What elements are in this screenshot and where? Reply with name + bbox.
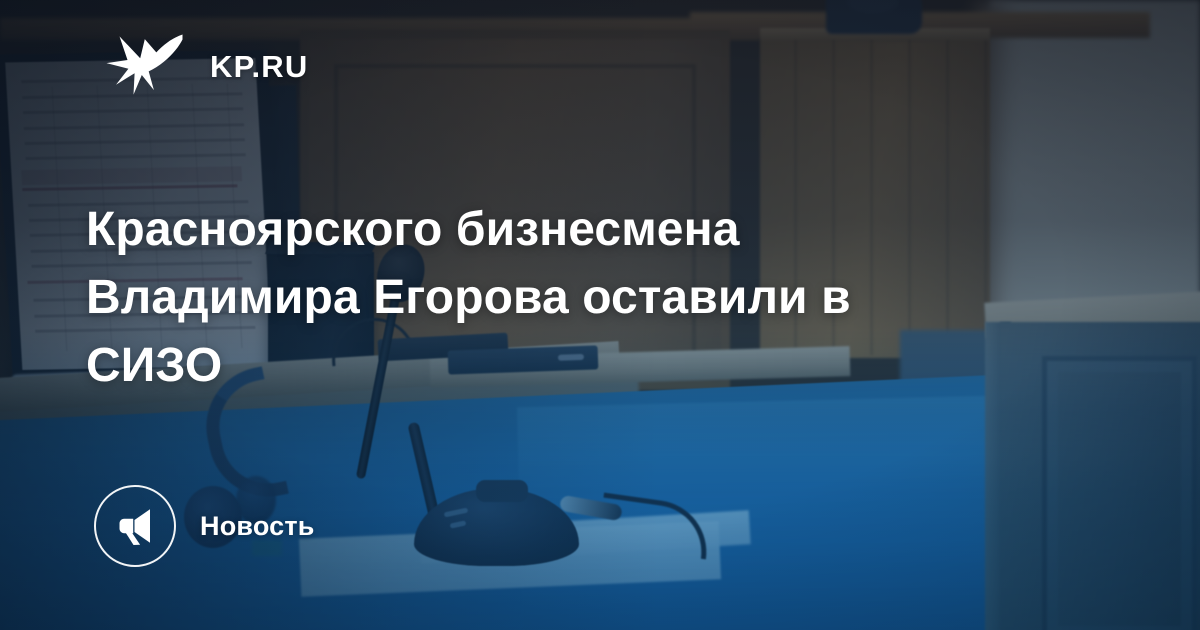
swallow-bird-icon xyxy=(104,30,188,102)
badge-label: Новость xyxy=(200,511,315,542)
page-title: Красноярского бизнесмена Владимира Егоро… xyxy=(86,196,966,400)
brand-name: KP.RU xyxy=(210,51,308,82)
badge-circle xyxy=(94,485,176,567)
megaphone-icon xyxy=(114,505,156,547)
brand-lockup[interactable]: KP.RU xyxy=(104,30,308,102)
card-content: KP.RU Красноярского бизнесмена Владимира… xyxy=(0,0,1200,630)
news-type-badge[interactable]: Новость xyxy=(94,485,315,567)
social-share-card: KP.RU Красноярского бизнесмена Владимира… xyxy=(0,0,1200,630)
